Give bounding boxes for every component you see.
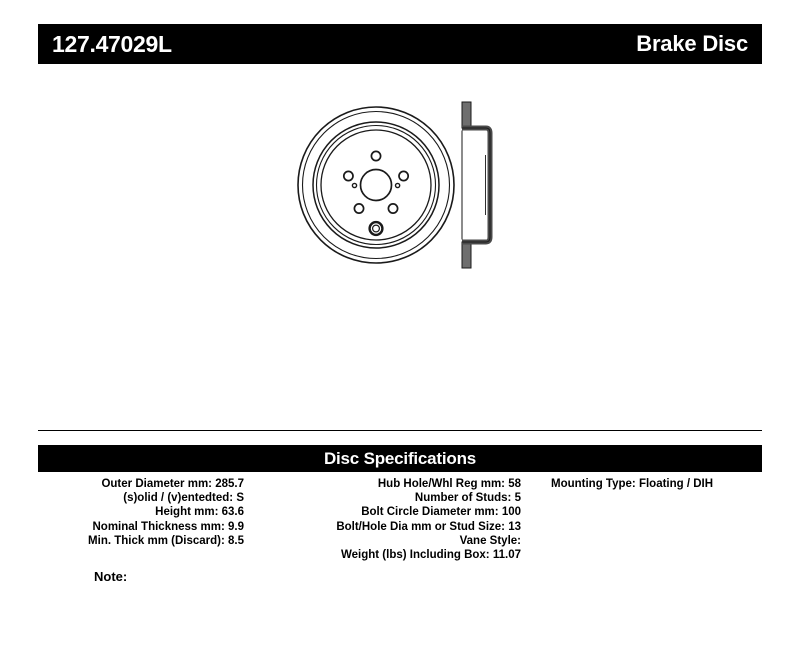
spec-value: 8.5: [228, 535, 244, 547]
spec-row: Hub Hole/Whl Reg mm: 58: [252, 477, 521, 491]
spec-label: Weight (lbs) Including Box:: [341, 549, 490, 561]
spec-value: 58: [508, 478, 521, 490]
spec-value: 5: [515, 492, 521, 504]
top-flange: [462, 102, 471, 128]
brake-disc-side-svg: [452, 100, 512, 270]
spec-value: S: [236, 492, 244, 504]
spec-value: Floating / DIH: [639, 478, 713, 490]
spec-column-middle: Hub Hole/Whl Reg mm: 58 Number of Studs:…: [252, 477, 529, 562]
spec-label: Outer Diameter mm:: [101, 478, 212, 490]
section-separator: [38, 430, 762, 431]
bottom-flange: [462, 242, 471, 268]
spec-label: Nominal Thickness mm:: [93, 521, 225, 533]
spec-row: Min. Thick mm (Discard): 8.5: [0, 534, 244, 548]
header-bar: 127.47029L Brake Disc: [38, 24, 762, 64]
note-block: Note:: [94, 570, 127, 583]
page-title: Brake Disc: [636, 33, 748, 55]
spec-row: Bolt/Hole Dia mm or Stud Size: 13: [252, 520, 521, 534]
spec-value: 285.7: [215, 478, 244, 490]
spec-row: Nominal Thickness mm: 9.9: [0, 520, 244, 534]
part-number: 127.47029L: [52, 33, 172, 56]
spec-row: Outer Diameter mm: 285.7: [0, 477, 244, 491]
spec-label: (s)olid / (v)entedted:: [123, 492, 233, 504]
spec-label: Height mm:: [155, 506, 218, 518]
spec-row: (s)olid / (v)entedted: S: [0, 491, 244, 505]
brake-disc-face-view: [286, 95, 466, 280]
spec-label: Bolt/Hole Dia mm or Stud Size:: [336, 521, 505, 533]
spec-value: 13: [508, 521, 521, 533]
spec-row: Weight (lbs) Including Box: 11.07: [252, 548, 521, 562]
spec-row: Mounting Type: Floating / DIH: [551, 477, 800, 491]
disc-specifications-header: Disc Specifications: [38, 445, 762, 472]
brake-disc-face-svg: [286, 95, 466, 275]
spec-row: Number of Studs: 5: [252, 491, 521, 505]
spec-label: Bolt Circle Diameter mm:: [361, 506, 498, 518]
spec-column-left: Outer Diameter mm: 285.7 (s)olid / (v)en…: [0, 477, 252, 548]
spec-column-right: Mounting Type: Floating / DIH: [529, 477, 800, 491]
spec-value: 11.07: [493, 549, 521, 561]
spec-label: Number of Studs:: [415, 492, 511, 504]
brake-disc-side-section-view: [452, 100, 512, 275]
spec-label: Hub Hole/Whl Reg mm:: [378, 478, 505, 490]
spec-row: Height mm: 63.6: [0, 505, 244, 519]
spec-row: Bolt Circle Diameter mm: 100: [252, 505, 521, 519]
spec-label: Mounting Type:: [551, 478, 636, 490]
spec-row: Vane Style:: [252, 534, 521, 548]
spec-value: 63.6: [222, 506, 244, 518]
disc-specifications-body: Outer Diameter mm: 285.7 (s)olid / (v)en…: [0, 477, 800, 562]
technical-drawing: [0, 95, 800, 295]
spec-label: Vane Style:: [460, 535, 521, 547]
note-label: Note:: [94, 569, 127, 584]
stud-holes: [344, 151, 408, 213]
retaining-screw-hole: [370, 222, 383, 235]
spec-value: 9.9: [228, 521, 244, 533]
spec-label: Min. Thick mm (Discard):: [88, 535, 225, 547]
disc-specifications-title: Disc Specifications: [324, 450, 476, 467]
spec-value: 100: [502, 506, 521, 518]
pin-holes: [352, 183, 399, 187]
